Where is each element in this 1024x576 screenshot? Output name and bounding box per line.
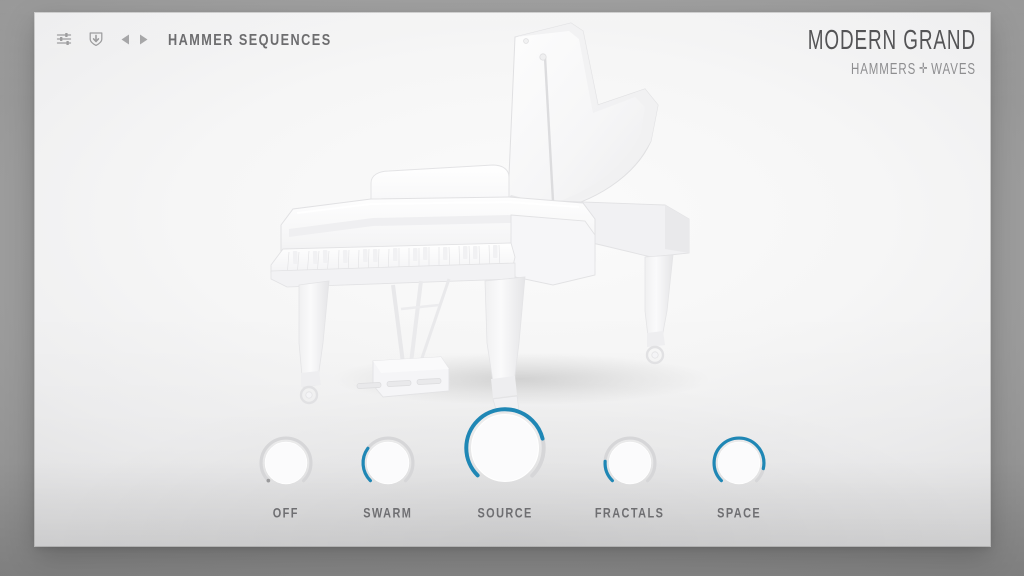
brand-sub-right: WAVES <box>931 60 976 78</box>
next-preset-button[interactable] <box>136 30 150 48</box>
knob-fractals-dial[interactable] <box>601 434 659 497</box>
knob-label-swarm: SWARM <box>363 507 412 521</box>
macro-knob-row: OFF SWARM <box>35 400 990 520</box>
knob-swarm-dial[interactable] <box>359 434 417 497</box>
knob-swarm[interactable]: SWARM <box>359 434 417 520</box>
sliders-icon[interactable] <box>54 29 74 49</box>
preset-name-display[interactable]: HAMMER SEQUENCES <box>168 30 332 48</box>
knob-off[interactable]: OFF <box>257 434 315 520</box>
knob-space-dial[interactable] <box>710 434 768 497</box>
knob-label-source: SOURCE <box>477 507 532 521</box>
brand-subtitle: HAMMERS ✛ WAVES <box>804 60 976 78</box>
knob-fractals[interactable]: FRACTALS <box>593 434 666 520</box>
brand-block: MODERN GRAND HAMMERS ✛ WAVES <box>789 30 976 76</box>
brand-separator-icon: ✛ <box>919 60 928 76</box>
plugin-window: HAMMER SEQUENCES MODERN GRAND HAMMERS ✛ … <box>35 13 990 546</box>
knob-label-space: SPACE <box>717 507 761 521</box>
knob-space[interactable]: SPACE <box>710 434 768 520</box>
knob-label-fractals: FRACTALS <box>595 507 664 521</box>
brand-title: MODERN GRAND <box>808 26 976 55</box>
knob-source[interactable]: SOURCE <box>461 404 549 520</box>
knob-source-dial[interactable] <box>461 404 549 497</box>
knob-label-off: OFF <box>273 507 299 521</box>
prev-preset-button[interactable] <box>118 30 132 48</box>
knob-off-dial[interactable] <box>257 434 315 497</box>
desktop-backdrop: HAMMER SEQUENCES MODERN GRAND HAMMERS ✛ … <box>0 0 1024 576</box>
download-icon[interactable] <box>86 29 106 49</box>
brand-sub-left: HAMMERS <box>851 60 916 78</box>
